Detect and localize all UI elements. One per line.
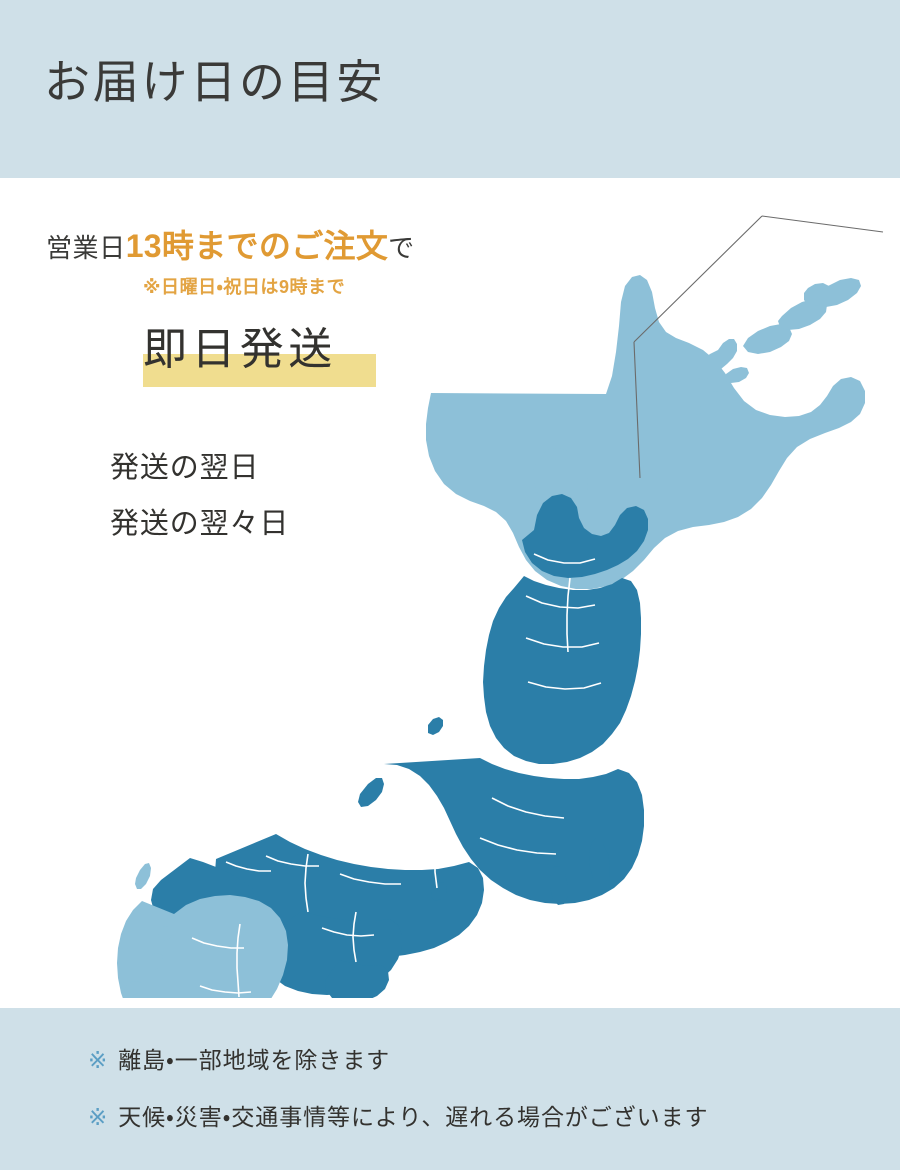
order-cutoff-lead: 営業日 [46,233,126,263]
map-prefecture-borders [192,554,601,998]
map-legend: 発送の翌日 発送の翌々日 [62,440,289,552]
map-region-kyushu [117,863,288,998]
legend-swatch-second-day [62,510,91,539]
map-okinawa-inset [634,216,883,478]
footer-band: ※離島・一部地域を除きます ※天候・災害・交通事情等により、遅れる場合がございま… [0,1008,900,1170]
legend-swatch-next-day [62,454,91,483]
delivery-estimate-page: お届け日の目安 営業日13時までのご注文で ※日曜日・祝日は9時まで 即日発送 … [0,0,900,1170]
order-cutoff-note: ※日曜日・祝日は9時まで [143,278,345,296]
order-cutoff-tail: で [388,233,415,263]
main-content: 営業日13時までのご注文で ※日曜日・祝日は9時まで 即日発送 発送の翌日 発送… [0,178,900,1008]
footer-note-1: ※離島・一部地域を除きます [88,1049,390,1072]
footer-note-1-text: 離島・一部地域を除きます [118,1047,390,1073]
order-cutoff-line: 営業日13時までのご注文で [46,230,415,262]
legend-label-next-day: 発送の翌日 [110,454,259,483]
note-mark-icon: ※ [88,1047,108,1073]
legend-item-next-day: 発送の翌日 [62,440,289,496]
legend-item-second-day: 発送の翌々日 [62,496,289,552]
map-region-okinawa [696,283,831,380]
map-region-hokkaido [426,275,865,589]
note-mark-icon: ※ [88,1104,108,1130]
map-region-honshu [151,494,648,998]
footer-note-2: ※天候・災害・交通事情等により、遅れる場合がございます [88,1106,708,1129]
order-cutoff-accent: 13時までのご注文 [126,228,388,264]
japan-shipping-map [40,198,890,998]
same-day-shipping-text: 即日発送 [143,328,337,372]
map-region-hokkaido-islands [690,278,861,415]
header-band: お届け日の目安 [0,0,900,178]
same-day-shipping-headline: 即日発送 [143,328,337,390]
legend-label-second-day: 発送の翌々日 [110,510,289,539]
page-title: お届け日の目安 [44,56,385,109]
footer-note-2-text: 天候・災害・交通事情等により、遅れる場合がございます [118,1104,708,1130]
